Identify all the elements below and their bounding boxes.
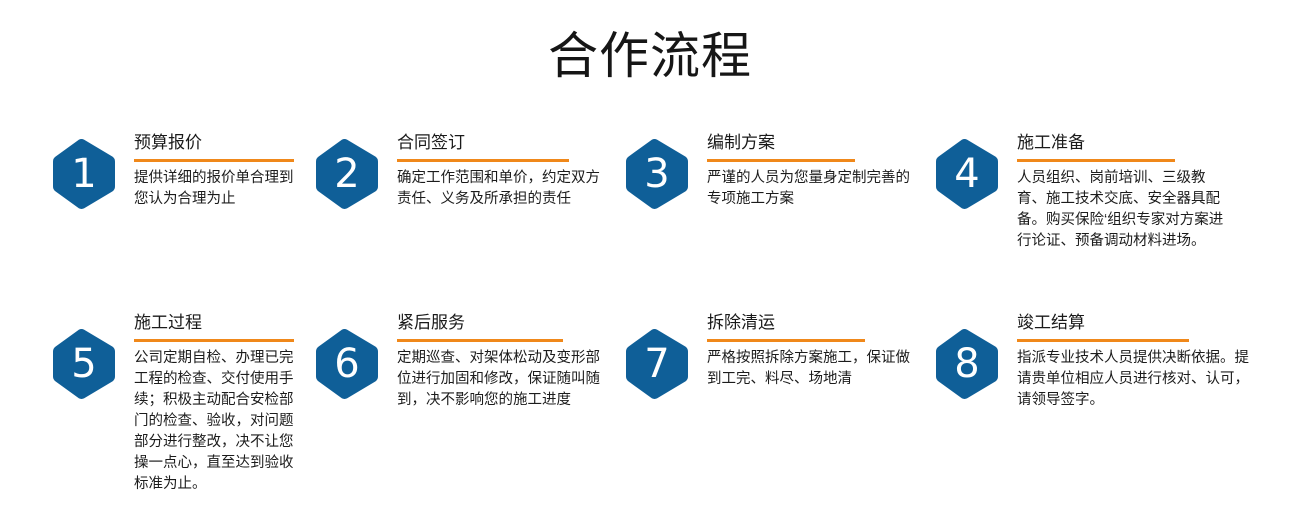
step-underline-rule — [397, 339, 563, 342]
step-content-2: 合同签订 确定工作范围和单价，约定双方责任、义务及所承担的责任 — [379, 130, 610, 210]
process-row-bottom: 5 施工过程 公司定期自检、办理已完工程的检查、交付使用手续；积极主动配合安检部… — [0, 310, 1300, 530]
step-number-label: 8 — [935, 328, 999, 400]
process-row-top: 1 预算报价 提供详细的报价单合理到您认为合理为止 2 合同签订 确定工作范围和… — [0, 130, 1300, 310]
step-underline-rule — [1017, 339, 1189, 342]
step-number-label: 6 — [315, 328, 379, 400]
step-content-1: 预算报价 提供详细的报价单合理到您认为合理为止 — [116, 130, 305, 210]
step-number-hexagon-7: 7 — [625, 328, 689, 400]
step-content-5: 施工过程 公司定期自检、办理已完工程的检查、交付使用手续；积极主动配合安检部门的… — [116, 310, 305, 495]
step-number-label: 5 — [52, 328, 116, 400]
step-number-hexagon-6: 6 — [315, 328, 379, 400]
step-heading: 施工过程 — [134, 312, 305, 334]
step-heading: 合同签订 — [397, 132, 610, 154]
step-description: 提供详细的报价单合理到您认为合理为止 — [134, 168, 305, 210]
step-content-4: 施工准备 人员组织、岗前培训、三级教育、施工技术交底、安全器具配备。购买保险‘组… — [999, 130, 1300, 252]
step-number-hexagon-8: 8 — [935, 328, 999, 400]
step-heading: 紧后服务 — [397, 312, 610, 334]
step-description: 人员组织、岗前培训、三级教育、施工技术交底、安全器具配备。购买保险‘组织专家对方… — [1017, 168, 1229, 252]
step-underline-rule — [134, 159, 294, 162]
process-step-8[interactable]: 8 竣工结算 指派专业技术人员提供决断依据。提请贵单位相应人员进行核对、认可，请… — [920, 310, 1300, 411]
step-underline-rule — [707, 339, 865, 342]
step-description: 指派专业技术人员提供决断依据。提请贵单位相应人员进行核对、认可，请领导签字。 — [1017, 348, 1255, 411]
process-step-1[interactable]: 1 预算报价 提供详细的报价单合理到您认为合理为止 — [0, 130, 305, 210]
step-number-label: 1 — [52, 138, 116, 210]
step-number-hexagon-5: 5 — [52, 328, 116, 400]
process-step-7[interactable]: 7 拆除清运 严格按照拆除方案施工，保证做到工完、料尽、场地清 — [610, 310, 920, 400]
step-underline-rule — [1017, 159, 1175, 162]
step-content-7: 拆除清运 严格按照拆除方案施工，保证做到工完、料尽、场地清 — [689, 310, 920, 390]
step-description: 严格按照拆除方案施工，保证做到工完、料尽、场地清 — [707, 348, 920, 390]
process-step-6[interactable]: 6 紧后服务 定期巡查、对架体松动及变形部位进行加固和修改，保证随叫随到，决不影… — [305, 310, 610, 411]
step-number-label: 4 — [935, 138, 999, 210]
step-number-hexagon-1: 1 — [52, 138, 116, 210]
step-heading: 竣工结算 — [1017, 312, 1300, 334]
step-description: 定期巡查、对架体松动及变形部位进行加固和修改，保证随叫随到，决不影响您的施工进度 — [397, 348, 610, 411]
step-number-hexagon-3: 3 — [625, 138, 689, 210]
step-number-hexagon-4: 4 — [935, 138, 999, 210]
step-description: 严谨的人员为您量身定制完善的专项施工方案 — [707, 168, 919, 210]
process-step-2[interactable]: 2 合同签订 确定工作范围和单价，约定双方责任、义务及所承担的责任 — [305, 130, 610, 210]
step-description: 公司定期自检、办理已完工程的检查、交付使用手续；积极主动配合安检部门的检查、验收… — [134, 348, 305, 495]
step-underline-rule — [707, 159, 855, 162]
step-description: 确定工作范围和单价，约定双方责任、义务及所承担的责任 — [397, 168, 610, 210]
step-number-hexagon-2: 2 — [315, 138, 379, 210]
process-step-4[interactable]: 4 施工准备 人员组织、岗前培训、三级教育、施工技术交底、安全器具配备。购买保险… — [920, 130, 1300, 252]
step-content-3: 编制方案 严谨的人员为您量身定制完善的专项施工方案 — [689, 130, 920, 210]
step-underline-rule — [134, 339, 294, 342]
step-heading: 拆除清运 — [707, 312, 920, 334]
process-step-3[interactable]: 3 编制方案 严谨的人员为您量身定制完善的专项施工方案 — [610, 130, 920, 210]
page-title: 合作流程 — [0, 26, 1300, 86]
step-heading: 施工准备 — [1017, 132, 1300, 154]
process-flow-grid: 1 预算报价 提供详细的报价单合理到您认为合理为止 2 合同签订 确定工作范围和… — [0, 130, 1300, 530]
process-step-5[interactable]: 5 施工过程 公司定期自检、办理已完工程的检查、交付使用手续；积极主动配合安检部… — [0, 310, 305, 495]
step-heading: 预算报价 — [134, 132, 305, 154]
step-content-6: 紧后服务 定期巡查、对架体松动及变形部位进行加固和修改，保证随叫随到，决不影响您… — [379, 310, 610, 411]
step-number-label: 2 — [315, 138, 379, 210]
step-content-8: 竣工结算 指派专业技术人员提供决断依据。提请贵单位相应人员进行核对、认可，请领导… — [999, 310, 1300, 411]
step-number-label: 3 — [625, 138, 689, 210]
step-heading: 编制方案 — [707, 132, 920, 154]
step-underline-rule — [397, 159, 569, 162]
step-number-label: 7 — [625, 328, 689, 400]
